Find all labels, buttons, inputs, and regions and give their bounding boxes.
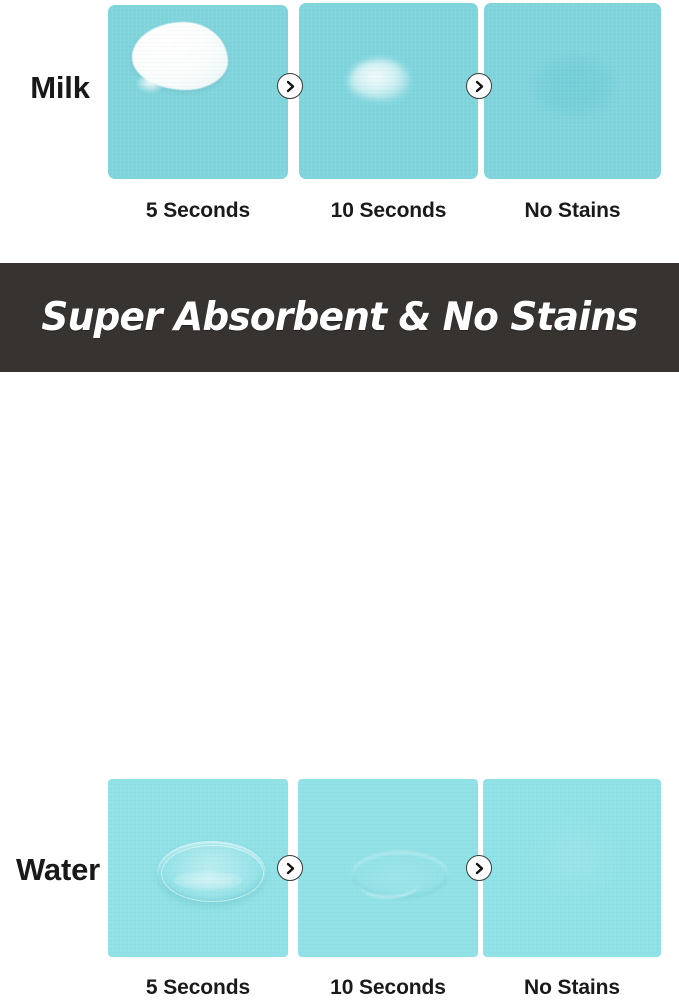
- droplet-highlight: [174, 871, 242, 890]
- row-label-water: Water: [2, 852, 114, 888]
- caption-water-5-seconds: 5 Seconds: [108, 976, 288, 1000]
- water-comparison-row: Water 5 Seconds 10 Seconds No Stains: [0, 372, 679, 627]
- row-label-milk: Milk: [10, 70, 110, 106]
- headline-text: Super Absorbent & No Stains: [41, 295, 637, 340]
- water-tile-no-stains: [483, 779, 661, 957]
- milk-droplet-large: [132, 22, 228, 90]
- water-droplet-flattened: [351, 851, 449, 899]
- milk-tile-no-stains: [484, 3, 661, 179]
- caption-water-no-stains: No Stains: [483, 976, 661, 1000]
- caption-milk-5-seconds: 5 Seconds: [108, 199, 288, 223]
- headline-banner: Super Absorbent & No Stains: [0, 263, 679, 372]
- caption-milk-10-seconds: 10 Seconds: [299, 199, 478, 223]
- droplet-rim: [357, 865, 420, 898]
- droplet-highlight: [147, 32, 191, 52]
- chevron-right-icon: [466, 855, 492, 881]
- droplet-tail: [136, 75, 165, 93]
- milk-residual-shadow: [532, 55, 616, 117]
- milk-tile-5-seconds: [108, 5, 288, 179]
- chevron-right-icon: [466, 73, 492, 99]
- milk-droplet-faded: [348, 59, 410, 101]
- water-droplet-large: [157, 841, 266, 904]
- droplet-rim: [161, 845, 263, 902]
- chevron-right-icon: [277, 855, 303, 881]
- water-tile-5-seconds: [108, 779, 288, 957]
- caption-water-10-seconds: 10 Seconds: [298, 976, 478, 1000]
- water-tile-10-seconds: [298, 779, 478, 957]
- caption-milk-no-stains: No Stains: [484, 199, 661, 223]
- water-residual-shadow: [531, 819, 617, 897]
- milk-tile-10-seconds: [299, 3, 478, 179]
- chevron-right-icon: [277, 73, 303, 99]
- milk-comparison-row: Milk 5 Seconds 10 Seconds No Stains: [0, 0, 679, 263]
